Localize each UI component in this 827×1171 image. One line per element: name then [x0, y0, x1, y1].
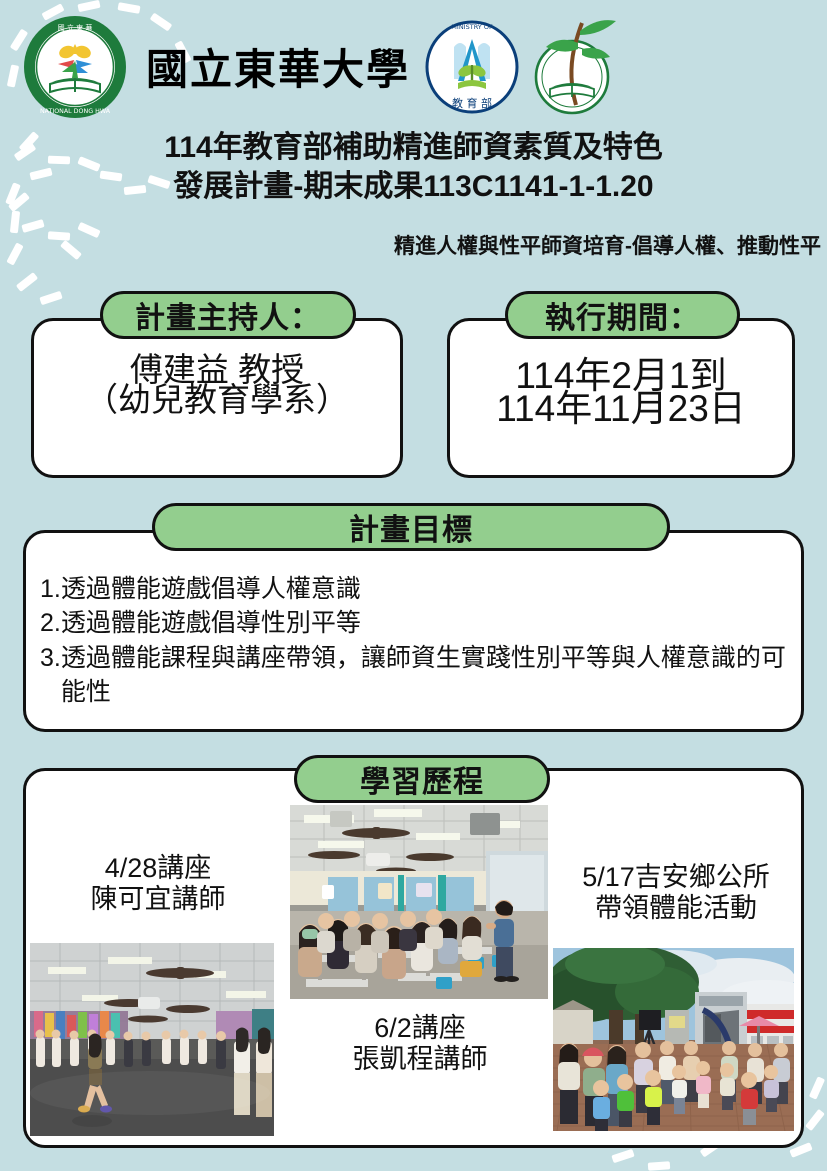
photo-lecture-classroom — [290, 805, 548, 999]
journey-caption-left-line1: 4/28講座 — [40, 853, 276, 884]
goal-text: 透過體能遊戲倡導人權意識 — [61, 572, 792, 606]
poster-title: 114年教育部補助精進師資素質及特色 發展計畫-期末成果113C1141-1-1… — [0, 128, 827, 206]
svg-text:MINISTRY OF: MINISTRY OF — [451, 23, 493, 31]
project-goals-list: 1. 透過體能遊戲倡導人權意識 2. 透過體能遊戲倡導性別平等 3. 透過體能課… — [40, 572, 792, 709]
journey-caption-mid-line2: 張凱程講師 — [295, 1044, 545, 1075]
goal-text: 透過體能課程與講座帶領，讓師資生實踐性別平等與人權意識的可能性 — [61, 641, 792, 710]
goal-number: 3. — [40, 641, 61, 675]
journey-caption-mid-line1: 6/2講座 — [295, 1013, 545, 1044]
journey-caption-right-line2: 帶領體能活動 — [548, 893, 804, 924]
director-department: （幼兒教育學系） — [31, 385, 403, 415]
goal-number: 2. — [40, 606, 61, 640]
title-line-1: 114年教育部補助精進師資素質及特色 — [0, 128, 827, 167]
project-goals-pill: 計畫目標 — [152, 503, 670, 551]
photo-dance-studio-activity — [30, 943, 274, 1136]
logo-row: 國 立 東 華 NATIONAL DONG HWA 國立東華大學 MINISTR… — [22, 14, 620, 125]
journey-caption-right-line1: 5/17吉安鄉公所 — [548, 862, 804, 893]
journey-caption-right: 5/17吉安鄉公所 帶領體能活動 — [548, 862, 804, 924]
goal-item: 1. 透過體能遊戲倡導人權意識 — [40, 572, 792, 606]
poster-subtitle: 精進人權與性平師資培育-倡導人權、推動性平 — [394, 230, 821, 260]
goal-item: 3. 透過體能課程與講座帶領，讓師資生實踐性別平等與人權意識的可能性 — [40, 641, 792, 710]
goal-text: 透過體能遊戲倡導性別平等 — [61, 606, 792, 640]
teacher-education-center-logo — [520, 15, 620, 124]
title-line-2: 發展計畫-期末成果113C1141-1-1.20 — [0, 167, 827, 206]
journey-caption-mid: 6/2講座 張凱程講師 — [295, 1013, 545, 1075]
project-director-body: 傅建益 教授 （幼兒教育學系） — [31, 355, 403, 416]
project-director-pill: 計畫主持人： — [100, 291, 356, 339]
goal-number: 1. — [40, 572, 61, 606]
poster-header: 國 立 東 華 NATIONAL DONG HWA 國立東華大學 MINISTR… — [0, 0, 827, 280]
university-name: 國立東華大學 — [146, 49, 410, 91]
ministry-of-education-logo: MINISTRY OF 教 育 部 — [424, 19, 520, 120]
period-end: 114年11月23日 — [447, 393, 795, 426]
execution-period-pill: 執行期間： — [505, 291, 740, 339]
svg-text:國 立 東 華: 國 立 東 華 — [58, 23, 93, 32]
execution-period-body: 114年2月1到 114年11月23日 — [447, 360, 795, 425]
ndhu-seal-logo: 國 立 東 華 NATIONAL DONG HWA — [22, 14, 128, 125]
photo-outdoor-community-activity — [553, 948, 794, 1131]
svg-text:教 育 部: 教 育 部 — [452, 96, 492, 110]
journey-caption-left: 4/28講座 陳可宜講師 — [40, 853, 276, 915]
journey-caption-left-line2: 陳可宜講師 — [40, 884, 276, 915]
goal-item: 2. 透過體能遊戲倡導性別平等 — [40, 606, 792, 640]
learning-journey-pill: 學習歷程 — [294, 755, 550, 803]
svg-text:NATIONAL DONG HWA: NATIONAL DONG HWA — [40, 108, 111, 115]
